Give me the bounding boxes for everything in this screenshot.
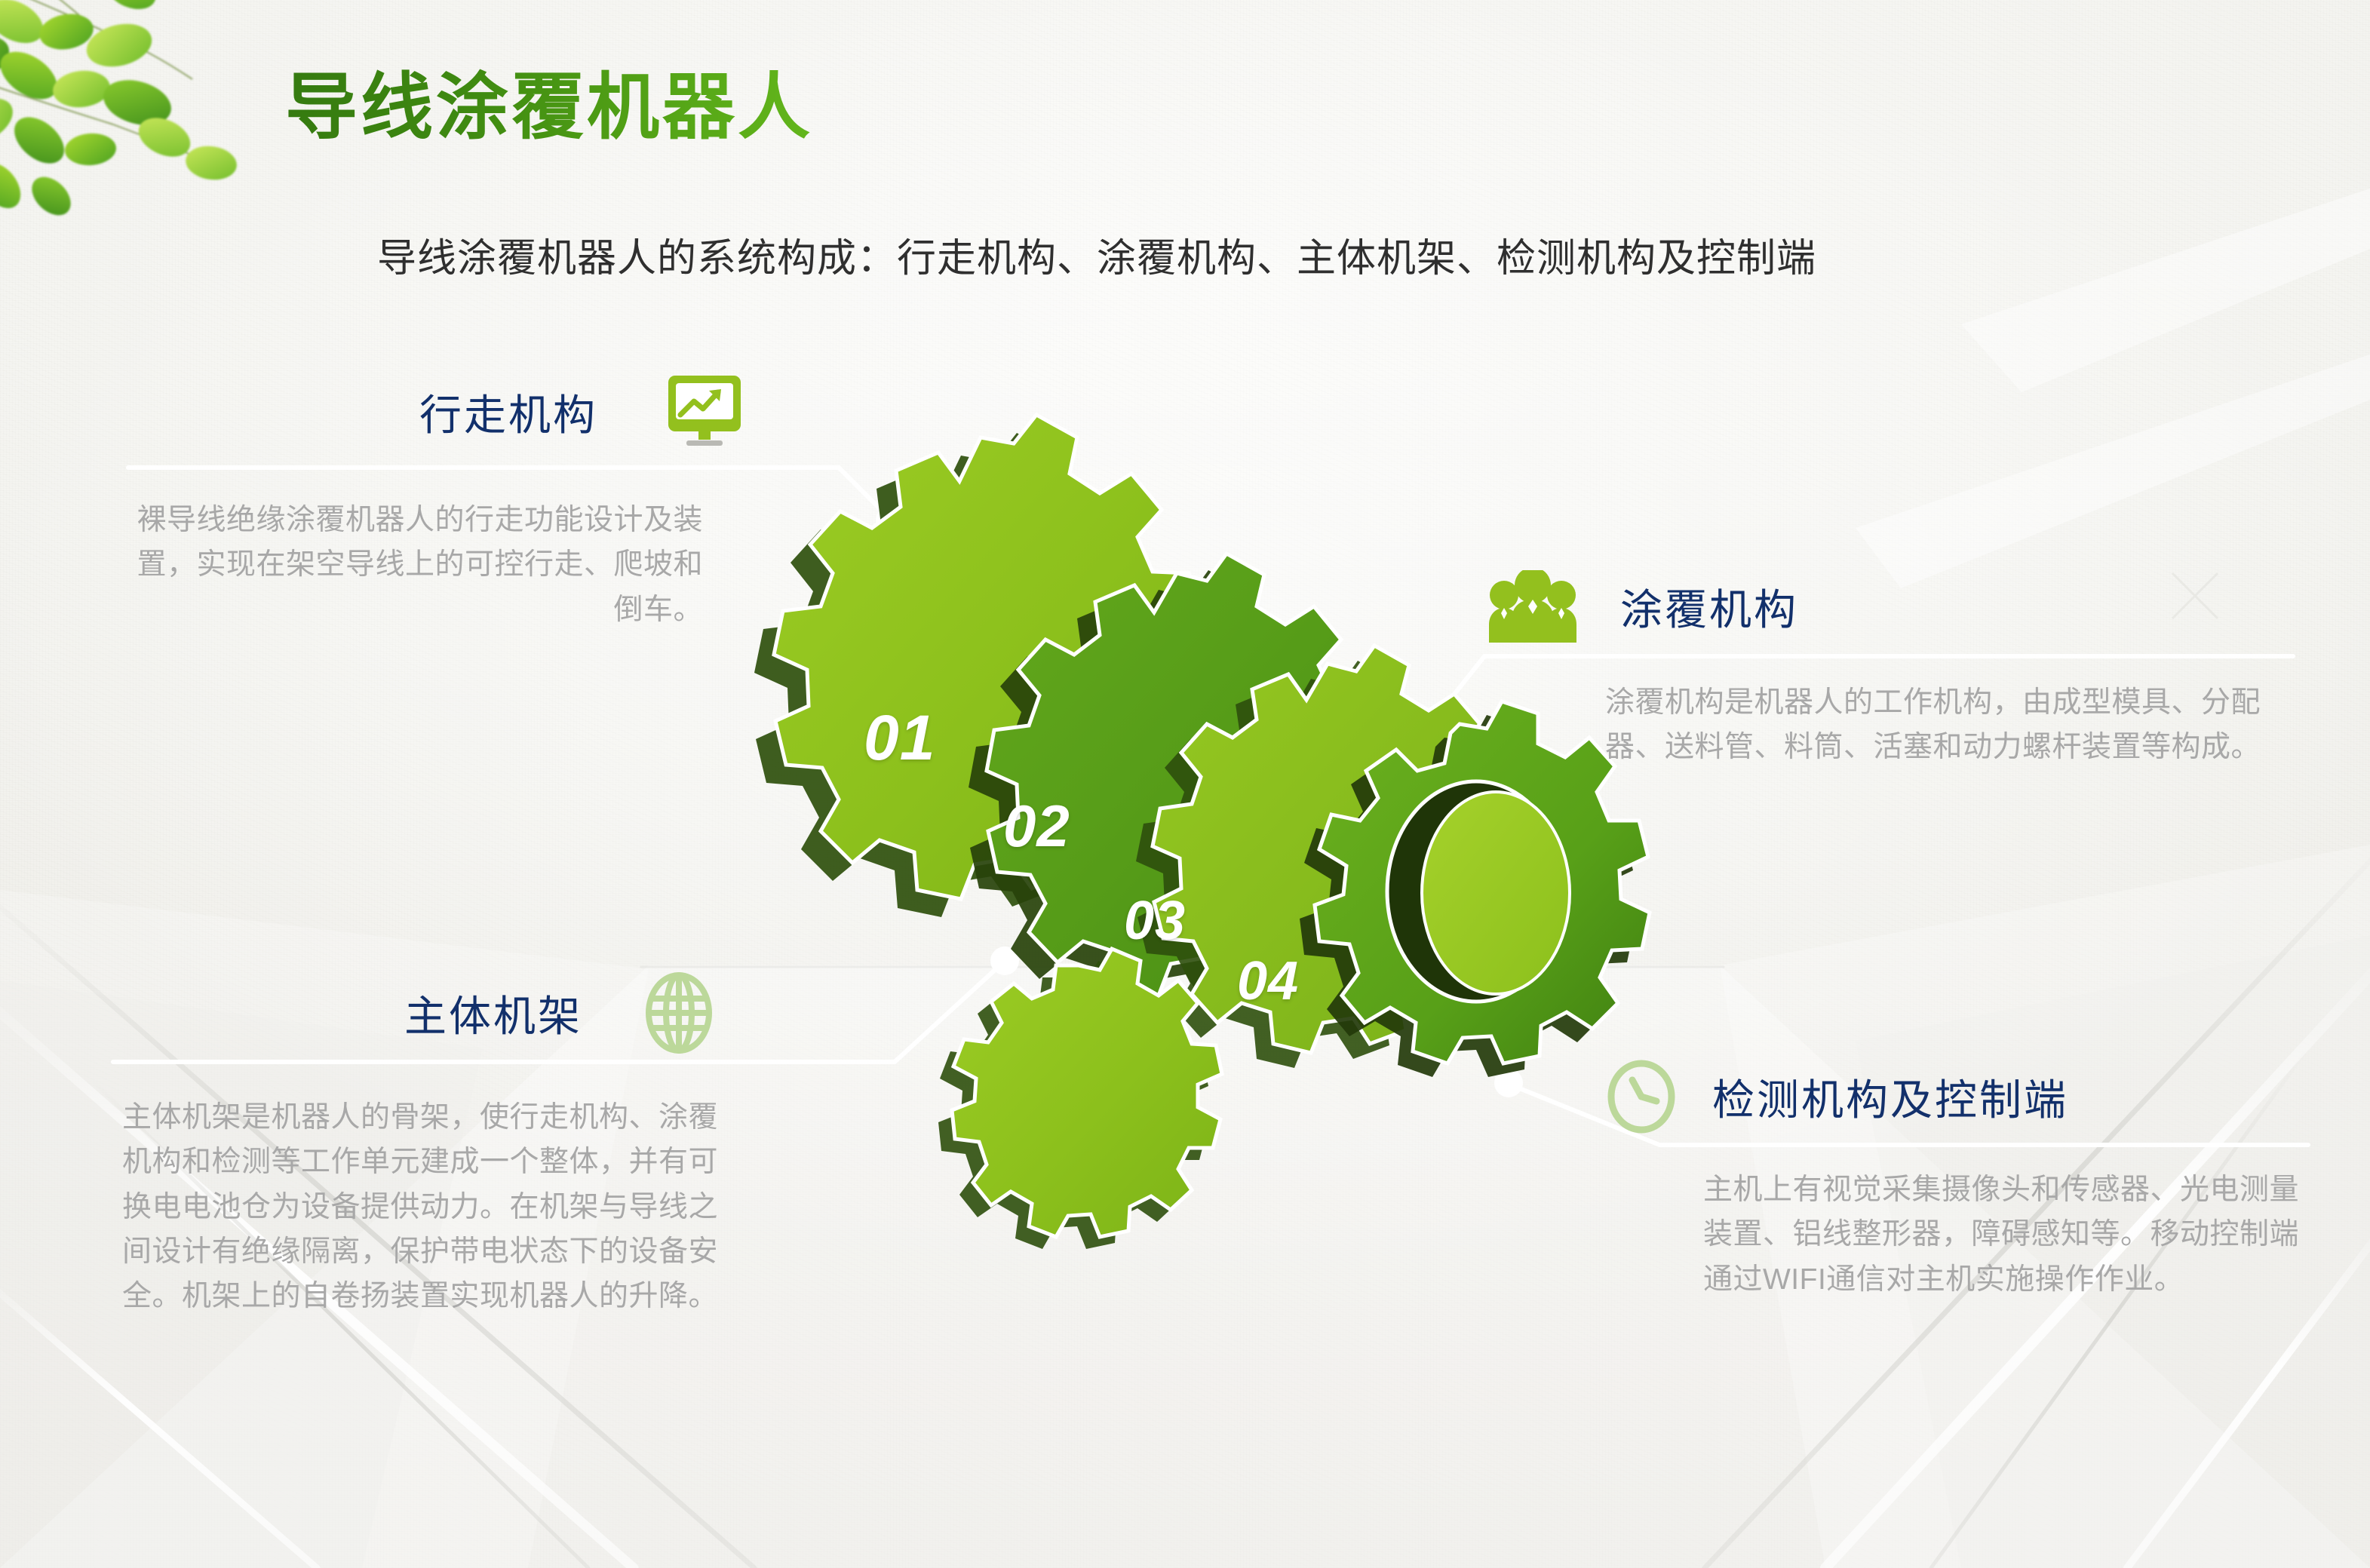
- section-body-coating-mechanism: 涂覆机构是机器人的工作机构，由成型模具、分配器、送料管、料筒、活塞和动力螺杆装置…: [1605, 680, 2284, 770]
- section-title-coating-mechanism: 涂覆机构: [1620, 576, 1798, 637]
- section-title-detection-control: 检测机构及控制端: [1712, 1066, 2068, 1128]
- gear-number-04: 04: [1237, 950, 1299, 1012]
- gear-number-03: 03: [1124, 890, 1186, 952]
- section-header-detection-control: 检测机构及控制端: [1605, 1059, 2068, 1134]
- section-title-walking-mechanism: 行走机构: [419, 382, 597, 443]
- gear-cluster: [724, 339, 1675, 1290]
- gear-number-02: 02: [1003, 792, 1070, 861]
- section-header-walking-mechanism: 行走机构: [419, 374, 744, 450]
- section-body-main-frame: 主体机架是机器人的骨架，使行走机构、涂覆机构和检测等工作单元建成一个整体，并有可…: [115, 1095, 718, 1318]
- section-header-main-frame: 主体机架: [404, 971, 715, 1054]
- leaves-decoration: [0, 0, 294, 264]
- page-title: 导线涂覆机器人: [285, 48, 813, 153]
- section-header-coating-mechanism: 涂覆机构: [1484, 570, 1798, 643]
- page-subtitle: 导线涂覆机器人的系统构成：行走机构、涂覆机构、主体机架、检测机构及控制端: [377, 226, 1816, 283]
- section-title-main-frame: 主体机架: [404, 983, 582, 1044]
- section-body-detection-control: 主机上有视觉采集摄像头和传感器、光电测量装置、铝线整形器，障碍感知等。移动控制端…: [1703, 1168, 2299, 1302]
- clock-icon: [1605, 1059, 1678, 1134]
- slide-canvas: 导线涂覆机器人 导线涂覆机器人的系统构成：行走机构、涂覆机构、主体机架、检测机构…: [0, 0, 2370, 1568]
- section-body-walking-mechanism: 裸导线绝缘涂覆机器人的行走功能设计及装置，实现在架空导线上的可控行走、爬坡和倒车…: [130, 498, 703, 632]
- people-group-icon: [1484, 570, 1581, 643]
- monitor-chart-icon: [665, 374, 744, 450]
- gear-number-01: 01: [864, 701, 935, 775]
- globe-icon: [643, 971, 715, 1054]
